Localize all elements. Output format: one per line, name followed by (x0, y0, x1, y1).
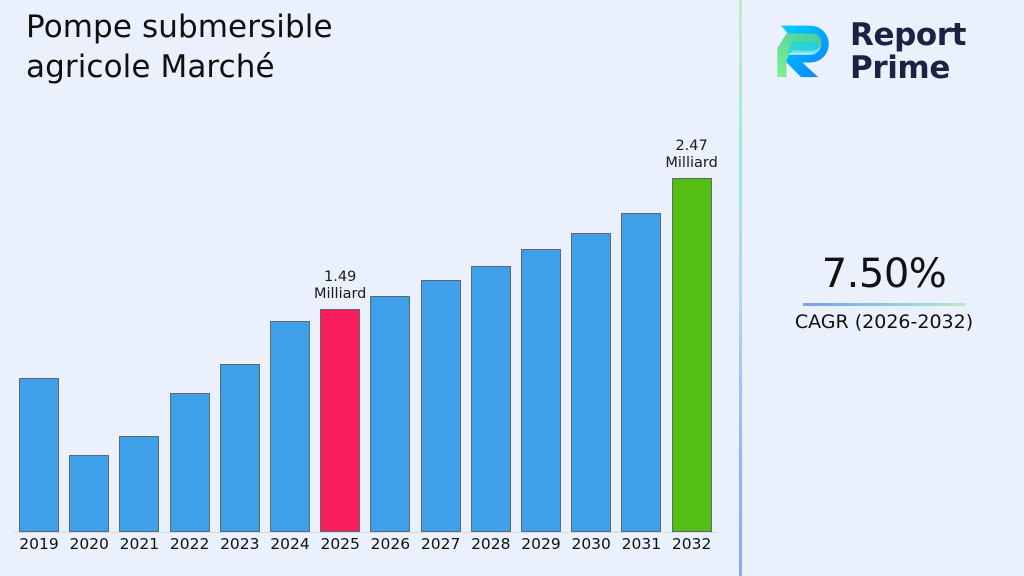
bar-rect-2023 (220, 364, 260, 532)
bar-rect-2030 (571, 233, 611, 532)
bar-value-number-2025: 1.49 (288, 269, 392, 286)
cagr-divider-rule (803, 303, 966, 306)
logo-line-1: Report (850, 19, 966, 52)
axis-baseline (14, 532, 717, 533)
bar-value-number-2032: 2.47 (640, 138, 744, 155)
panel-divider (739, 0, 742, 576)
bar-rect-2022 (170, 393, 210, 532)
cagr-caption: CAGR (2026-2032) (744, 311, 1024, 334)
cagr-block: 7.50% CAGR (2026-2032) (744, 252, 1024, 334)
chart-panel: Pompe submersible agricole Marché 1.49Mi… (0, 0, 740, 576)
bar-rect-2026 (370, 296, 410, 532)
info-panel: Report Prime 7.50% CAGR (2026-2032) (744, 0, 1024, 576)
bar-rect-2028 (471, 266, 511, 532)
report-prime-wordmark: Report Prime (850, 19, 966, 84)
chart-page: Pompe submersible agricole Marché 1.49Mi… (0, 0, 1024, 576)
bar-rect-2031 (621, 213, 661, 532)
bar-rect-2021 (119, 436, 159, 532)
report-prime-mark-icon (772, 19, 838, 85)
x-tick-2032: 2032 (662, 535, 722, 553)
bar-value-label-2032: 2.47Milliard (640, 138, 744, 172)
bar-rect-2019 (19, 378, 59, 532)
cagr-value: 7.50% (744, 252, 1024, 297)
report-prime-logo: Report Prime (772, 12, 1012, 92)
bar-rect-2032 (672, 178, 712, 532)
bar-value-unit-2032: Milliard (640, 155, 744, 172)
plot-area: 1.49Milliard2.47Milliard (0, 120, 740, 533)
bar-rect-2024 (270, 321, 310, 532)
bar-rect-2029 (521, 249, 561, 532)
bar-rect-2027 (421, 280, 461, 532)
logo-line-2: Prime (850, 52, 966, 85)
x-axis-tick-labels: 2019202020212022202320242025202620272028… (0, 535, 740, 565)
bar-rect-2020 (69, 455, 109, 532)
chart-title: Pompe submersible agricole Marché (26, 8, 496, 87)
bar-rect-2025 (320, 309, 360, 532)
